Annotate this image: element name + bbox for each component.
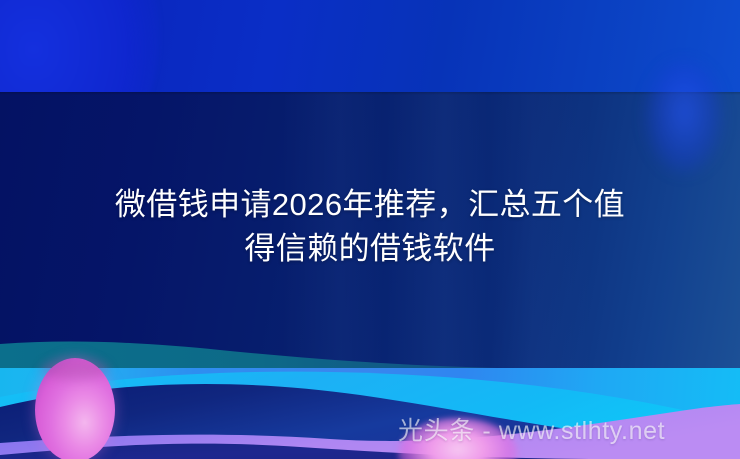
promo-banner: 微借钱申请2026年推荐，汇总五个值 得信赖的借钱软件 光头条 - www.st… (0, 0, 740, 459)
pink-ellipse-bottom-left (35, 358, 115, 459)
site-watermark: 光头条 - www.stlhty.net (398, 415, 665, 447)
glow-mid-right-ellipse (645, 62, 723, 174)
page-title: 微借钱申请2026年推荐，汇总五个值 得信赖的借钱软件 (0, 183, 740, 271)
title-line-1: 微借钱申请2026年推荐，汇总五个值 (0, 183, 740, 227)
title-line-2: 得信赖的借钱软件 (0, 227, 740, 271)
